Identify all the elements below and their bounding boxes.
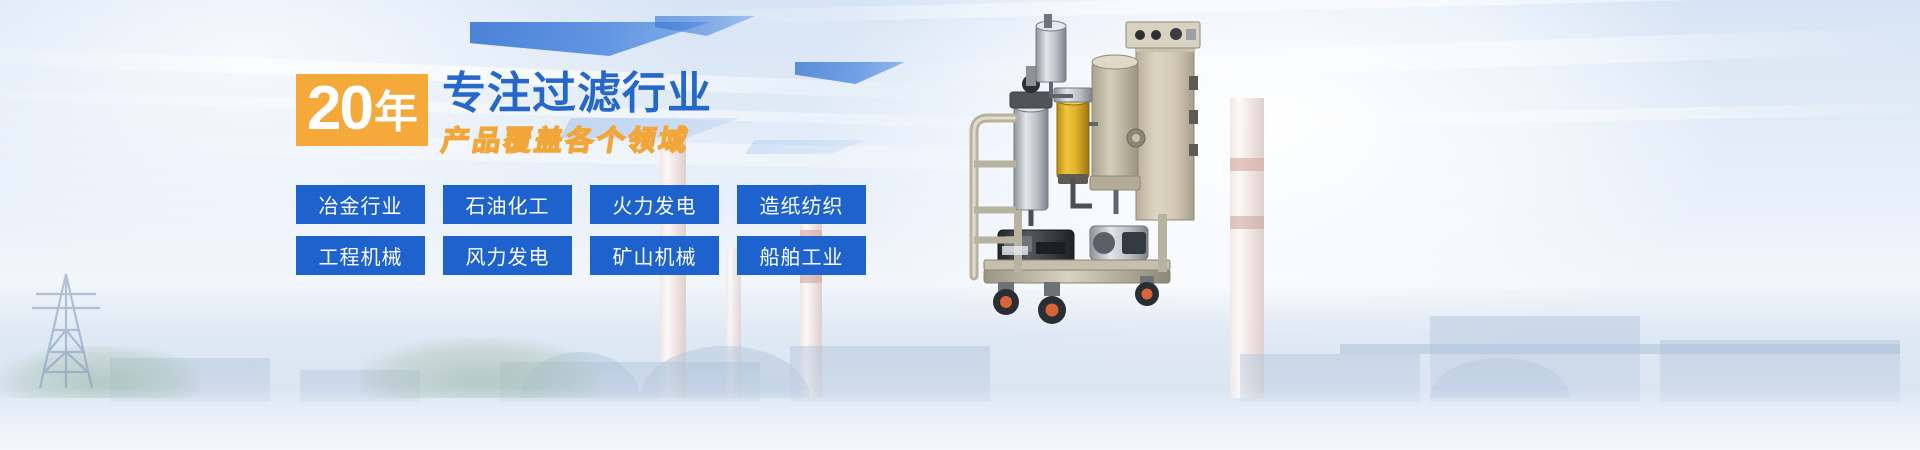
headline: 20 年 专注过滤行业 产品覆盖各个领域 bbox=[296, 72, 916, 159]
roofline bbox=[1340, 344, 1900, 354]
industry-tag-metallurgy[interactable]: 冶金行业 bbox=[296, 185, 425, 224]
industry-tag-paper-textile[interactable]: 造纸纺织 bbox=[737, 185, 866, 224]
ground-fade bbox=[0, 388, 1920, 450]
headline-text-group: 专注过滤行业 产品覆盖各个领域 bbox=[442, 72, 712, 159]
industry-tag-petrochemical[interactable]: 石油化工 bbox=[443, 185, 572, 224]
power-pylon-icon bbox=[18, 272, 114, 390]
years-unit: 年 bbox=[374, 91, 417, 135]
headline-sub: 产品覆盖各个领域 bbox=[439, 119, 715, 159]
years-number: 20 bbox=[307, 78, 372, 140]
industry-tag-row: 工程机械 风力发电 矿山机械 船舶工业 bbox=[296, 236, 916, 275]
industry-tag-list: 冶金行业 石油化工 火力发电 造纸纺织 工程机械 风力发电 矿山机械 船舶工业 bbox=[296, 185, 916, 275]
industry-tag-wind-power[interactable]: 风力发电 bbox=[443, 236, 572, 275]
years-badge: 20 年 bbox=[296, 74, 428, 146]
industry-tag-shipbuilding[interactable]: 船舶工业 bbox=[737, 236, 866, 275]
industry-tag-mining-machinery[interactable]: 矿山机械 bbox=[590, 236, 719, 275]
industry-tag-thermal-power[interactable]: 火力发电 bbox=[590, 185, 719, 224]
product-image-filtration-cart bbox=[940, 14, 1260, 344]
hero-banner: 20 年 专注过滤行业 产品覆盖各个领域 冶金行业 石油化工 火力发电 造纸纺织… bbox=[0, 0, 1920, 450]
industry-tag-construction-machinery[interactable]: 工程机械 bbox=[296, 236, 425, 275]
headline-main: 专注过滤行业 bbox=[442, 72, 712, 117]
industry-tag-row: 冶金行业 石油化工 火力发电 造纸纺织 bbox=[296, 185, 916, 224]
banner-content: 20 年 专注过滤行业 产品覆盖各个领域 冶金行业 石油化工 火力发电 造纸纺织… bbox=[296, 72, 916, 287]
